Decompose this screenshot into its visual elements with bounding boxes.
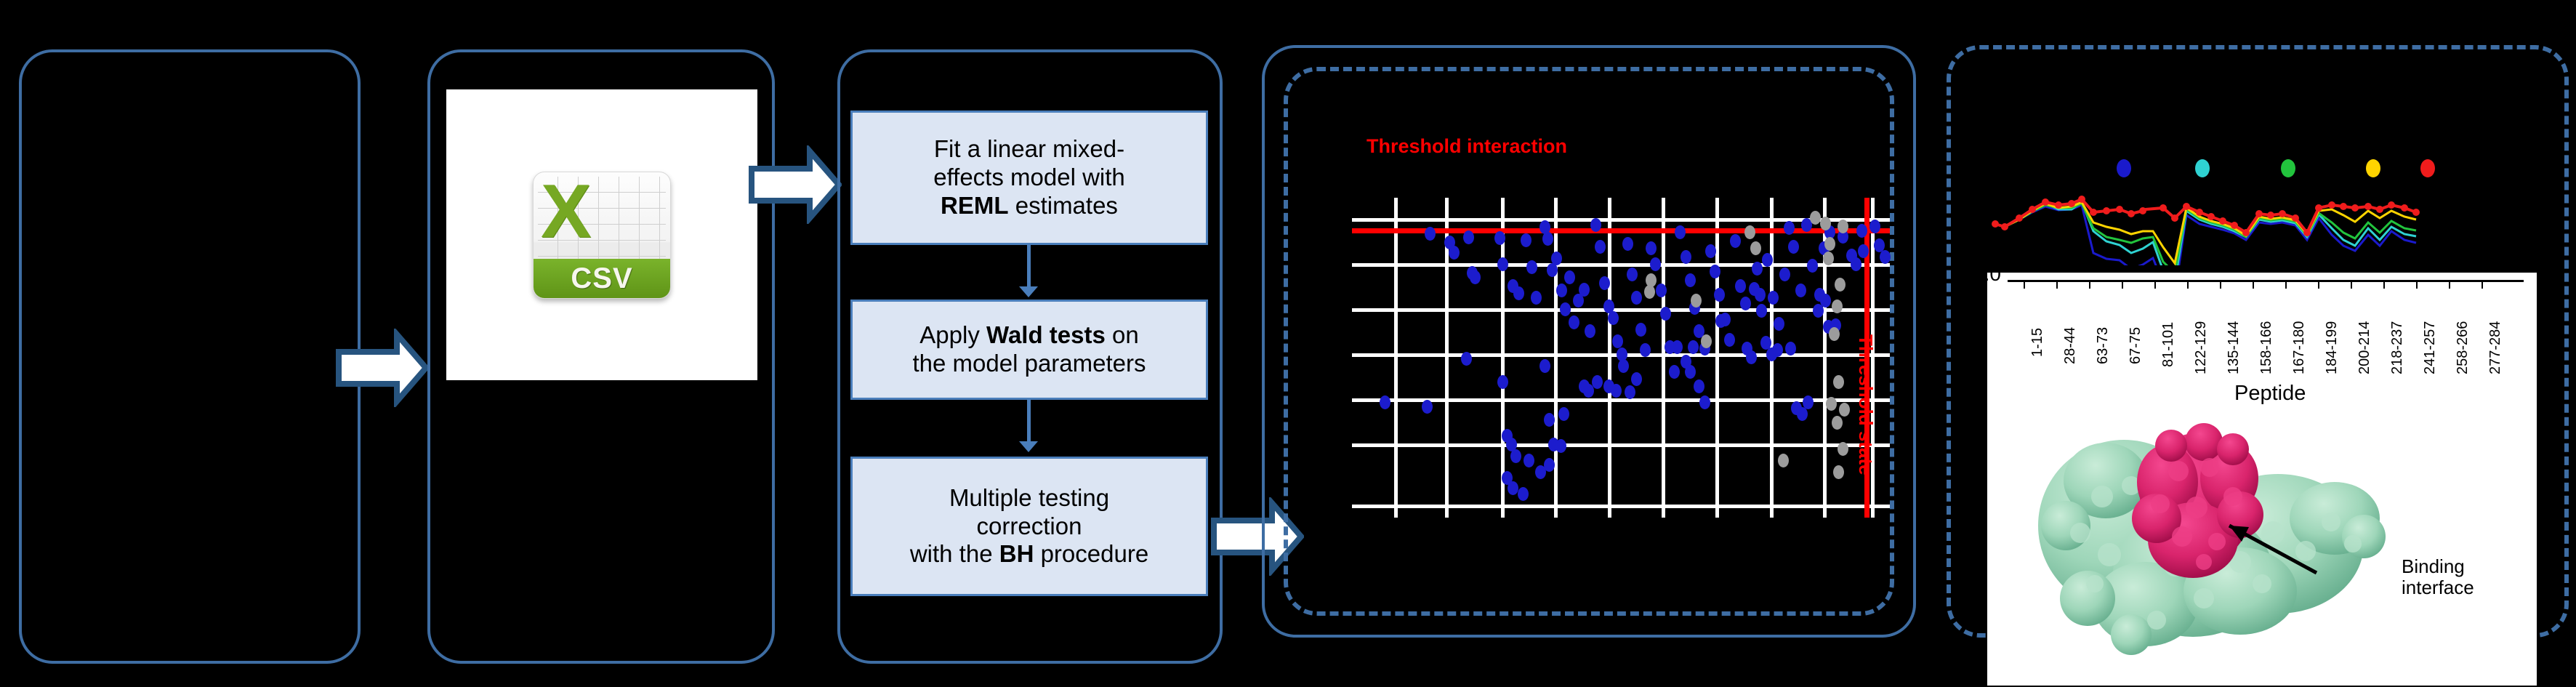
csv-file-icon: X CSV — [533, 172, 671, 299]
scatter-point — [1774, 317, 1784, 331]
scatter-point — [1595, 240, 1606, 254]
scatter-point — [1611, 384, 1622, 398]
scatter-point-gray — [1644, 285, 1655, 299]
volcano-plot: Threshold interaction Thr — [1352, 153, 1890, 538]
step-model-fit-line3-suffix: estimates — [1009, 192, 1118, 219]
peptide-label-8: 167-180 — [2291, 321, 2308, 374]
scatter-point — [1555, 439, 1566, 453]
scatter-point — [1768, 291, 1779, 305]
scatter-point — [1608, 311, 1619, 325]
scatter-point — [1640, 343, 1651, 357]
scatter-point — [1807, 259, 1818, 273]
scatter-point — [1625, 385, 1635, 399]
scatter-point — [1422, 400, 1433, 414]
scatter-point — [1752, 262, 1763, 276]
scatter-point — [1858, 244, 1869, 258]
step-model-fit-line2: effects model with — [933, 164, 1125, 190]
scatter-point — [1544, 458, 1555, 472]
scatter-point — [1646, 241, 1657, 255]
scatter-point — [1856, 224, 1867, 238]
scatter-point — [1694, 379, 1704, 393]
peptide-tick — [2253, 280, 2254, 289]
figure-canvas: X CSV Fit a linear mixed- effects model … — [0, 0, 2576, 687]
gridline-h — [1352, 505, 1890, 508]
peptide-tick — [2482, 280, 2483, 289]
scatter-point — [1518, 487, 1529, 501]
scatter-point — [1508, 481, 1518, 495]
y-axis-tick-0: 0.0 — [1973, 262, 2001, 286]
scatter-point — [1560, 302, 1571, 316]
csv-icon-card: X CSV — [446, 89, 757, 380]
peptide-tick — [2154, 280, 2156, 289]
scatter-point — [1710, 265, 1720, 278]
scatter-point — [1631, 372, 1642, 386]
scatter-point — [1669, 365, 1680, 379]
peptide-x-axis — [2008, 280, 2524, 282]
scatter-point — [1556, 284, 1567, 297]
scatter-point-gray — [1835, 278, 1846, 292]
peptide-line-chart-svg — [1992, 138, 2544, 265]
peptide-label-13: 258-266 — [2455, 321, 2471, 374]
scatter-point-gray — [1750, 241, 1761, 255]
binding-interface-label-line1: Binding — [2402, 556, 2474, 577]
scatter-point — [1688, 340, 1699, 354]
scatter-point — [1803, 395, 1814, 409]
peptide-line-chart — [1992, 138, 2544, 265]
step-wald-suffix: on — [1106, 321, 1139, 348]
step-mt-line1: Multiple testing — [949, 484, 1109, 511]
scatter-point — [1524, 454, 1534, 467]
peptide-structure-card: 0.0 1-15 28-44 63-73 67-75 81-101 122-12… — [1987, 273, 2537, 686]
series-cyan-line — [1995, 202, 2416, 265]
scatter-point-gray — [1744, 225, 1755, 239]
legend-dot-cyan — [2195, 159, 2210, 177]
peptide-tick — [2024, 280, 2025, 289]
gridline-v — [1394, 198, 1398, 518]
gridline-v — [1662, 198, 1665, 518]
gridline-h — [1352, 308, 1890, 312]
scatter-point — [1612, 334, 1623, 348]
scatter-point — [1551, 252, 1562, 265]
scatter-point — [1463, 230, 1474, 244]
scatter-point — [1513, 286, 1524, 300]
scatter-point — [1784, 221, 1795, 235]
threshold-state-label: Threshold state — [1854, 334, 1877, 475]
peptide-tick — [2449, 280, 2450, 289]
scatter-point — [1730, 234, 1741, 248]
peptide-label-11: 218-237 — [2389, 321, 2406, 374]
protein-surface-render — [2022, 417, 2400, 656]
step-mt-line3-suffix: procedure — [1034, 540, 1148, 567]
step-mt-line2: correction — [977, 513, 1082, 539]
scatter-point — [1714, 288, 1725, 302]
gridline-v — [1501, 198, 1505, 518]
scatter-point — [1380, 395, 1390, 409]
peptide-label-6: 135-144 — [2226, 321, 2242, 374]
scatter-point — [1742, 342, 1752, 355]
scatter-point-gray — [1833, 465, 1844, 479]
scatter-point — [1820, 294, 1831, 308]
step-model-fit-keyword: REML — [941, 192, 1009, 219]
threshold-interaction-label: Threshold interaction — [1367, 135, 1567, 158]
peptide-label-4: 81-101 — [2160, 322, 2177, 367]
scatter-point-gray — [1839, 403, 1850, 417]
csv-format-band: CSV — [534, 259, 670, 298]
gridline-v — [1608, 198, 1611, 518]
scatter-point-gray — [1810, 211, 1821, 225]
peptide-label-14: 277-284 — [2487, 321, 2504, 374]
scatter-point — [1590, 218, 1601, 232]
legend-dot-green — [2281, 159, 2295, 177]
scatter-point — [1672, 340, 1683, 354]
peptide-label-10: 200-214 — [2356, 321, 2373, 374]
peptide-tick — [2187, 280, 2189, 289]
gridline-v — [1715, 198, 1719, 518]
scatter-point-gray — [1832, 300, 1843, 313]
peptide-tick — [2220, 280, 2221, 289]
peptide-tick — [2089, 280, 2090, 289]
scatter-point-gray — [1832, 416, 1843, 430]
peptide-tick — [2056, 280, 2058, 289]
scatter-point — [1762, 253, 1773, 267]
scatter-point — [1685, 365, 1696, 379]
scatter-point — [1685, 273, 1696, 287]
scatter-point — [1449, 246, 1460, 260]
scatter-point — [1539, 359, 1550, 373]
scatter-point — [1635, 323, 1646, 337]
scatter-point-gray — [1838, 220, 1848, 233]
peptide-label-0: 1-15 — [2029, 328, 2046, 357]
scatter-point-gray — [1701, 334, 1712, 348]
scatter-point-gray — [1820, 217, 1831, 230]
scatter-point — [1627, 268, 1638, 281]
connector-1 — [1027, 245, 1031, 290]
scatter-point — [1735, 279, 1746, 293]
scatter-point — [1558, 407, 1569, 421]
scatter-point — [1681, 250, 1691, 264]
step-model-fit-line1: Fit a linear mixed- — [934, 135, 1124, 162]
scatter-point — [1656, 284, 1667, 297]
scatter-point — [1724, 333, 1735, 347]
scatter-point — [1599, 276, 1610, 290]
peptide-tick — [2383, 280, 2385, 289]
connector-2-arrowhead — [1019, 441, 1038, 452]
scatter-point — [1660, 307, 1671, 321]
scatter-point — [1521, 233, 1531, 247]
scatter-point — [1756, 304, 1767, 318]
connector-1-arrowhead — [1019, 286, 1038, 297]
step-model-fit: Fit a linear mixed- effects model with R… — [850, 111, 1208, 245]
peptide-axis-title: Peptide — [2234, 382, 2306, 406]
peptide-label-2: 63-73 — [2095, 327, 2112, 364]
scatter-point — [1675, 225, 1686, 239]
scatter-point — [1699, 395, 1710, 409]
binding-interface-label: Binding interface — [2402, 556, 2474, 598]
step-wald-tests: Apply Wald tests on the model parameters — [850, 300, 1208, 400]
scatter-point — [1795, 284, 1806, 297]
scatter-point — [1631, 291, 1642, 305]
peptide-tick — [2416, 280, 2418, 289]
scatter-point — [1585, 324, 1595, 338]
scatter-point — [1544, 413, 1555, 427]
peptide-tick — [2318, 280, 2319, 289]
series-green-line — [1995, 204, 2416, 265]
peptide-label-5: 122-129 — [2193, 321, 2210, 374]
peptide-tick — [2122, 280, 2123, 289]
step-wald-keyword: Wald tests — [986, 321, 1106, 348]
scatter-point — [1772, 343, 1783, 357]
gridline-h — [1352, 443, 1890, 447]
input-panel — [19, 49, 361, 664]
scatter-point — [1788, 240, 1799, 254]
scatter-point — [1755, 288, 1766, 302]
binding-interface-label-line2: interface — [2402, 577, 2474, 598]
step-mt-line3-prefix: with the — [910, 540, 999, 567]
scatter-point — [1592, 375, 1603, 389]
scatter-point — [1564, 270, 1575, 284]
step-wald-line2: the model parameters — [913, 350, 1146, 377]
scatter-point-gray — [1691, 294, 1702, 308]
scatter-point — [1705, 244, 1716, 258]
connector-2 — [1027, 400, 1031, 445]
arrow-to-analysis-panel — [749, 145, 842, 224]
scatter-point-gray — [1826, 397, 1837, 411]
scatter-point — [1650, 257, 1661, 271]
scatter-point — [1497, 257, 1508, 271]
scatter-point — [1622, 237, 1633, 251]
scatter-point — [1470, 270, 1481, 284]
scatter-point — [1785, 342, 1796, 355]
scatter-point — [1740, 297, 1751, 310]
scatter-point-gray — [1838, 442, 1848, 456]
peptide-label-12: 241-257 — [2422, 321, 2439, 374]
scatter-point — [1494, 231, 1505, 245]
scatter-point-gray — [1823, 252, 1834, 265]
scatter-point-gray — [1824, 237, 1835, 251]
step-mt-keyword: BH — [999, 540, 1034, 567]
gridline-v — [1554, 198, 1558, 518]
scatter-point — [1869, 220, 1880, 233]
scatter-point — [1510, 449, 1521, 463]
scatter-point — [1618, 359, 1629, 373]
scatter-point — [1579, 283, 1590, 297]
series-yellow-line — [1995, 202, 2416, 263]
scatter-point — [1542, 232, 1553, 246]
step-multiple-testing: Multiple testing correction with the BH … — [850, 457, 1208, 596]
arrow-into-input-panel — [336, 329, 429, 407]
scatter-point — [1880, 250, 1891, 264]
legend-dot-blue — [2117, 159, 2131, 177]
csv-format-label: CSV — [571, 264, 632, 293]
scatter-point — [1779, 268, 1790, 281]
peptide-label-3: 67-75 — [2128, 327, 2144, 364]
scatter-point — [1569, 316, 1579, 329]
legend-dot-red — [2420, 159, 2435, 177]
step-wald-prefix: Apply — [919, 321, 986, 348]
scatter-point — [1851, 257, 1861, 271]
peptide-tick — [2285, 280, 2287, 289]
legend-dot-yellow — [2366, 159, 2380, 177]
scatter-point — [1461, 352, 1472, 366]
scatter-point-gray — [1833, 375, 1844, 389]
scatter-point — [1797, 407, 1808, 421]
scatter-point — [1531, 291, 1542, 305]
peptide-label-1: 28-44 — [2062, 327, 2079, 364]
excel-x-icon: X — [541, 174, 591, 249]
scatter-point — [1715, 314, 1726, 328]
peptide-label-7: 158-166 — [2258, 321, 2275, 374]
scatter-point — [1526, 260, 1537, 274]
peptide-label-9: 184-199 — [2324, 321, 2340, 374]
peptide-tick — [2351, 280, 2352, 289]
volcano-plot-area: Threshold state — [1352, 198, 1890, 518]
scatter-point-gray — [1829, 327, 1840, 341]
scatter-point-gray — [1778, 454, 1789, 467]
scatter-point — [1425, 227, 1436, 241]
scatter-point — [1497, 375, 1508, 389]
